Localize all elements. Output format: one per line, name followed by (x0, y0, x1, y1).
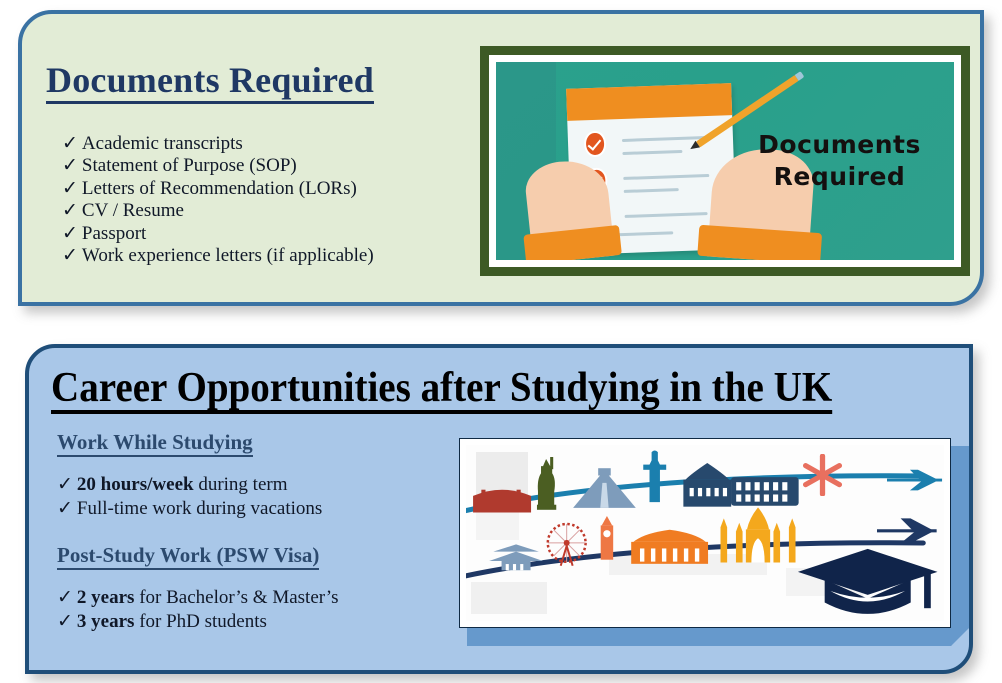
list-item-emphasis: 20 hours/week (77, 474, 194, 495)
subheading-post-study-work: Post-Study Work (PSW Visa) (57, 543, 319, 570)
big-ben-icon (595, 515, 619, 561)
documents-heading: Documents Required (46, 62, 374, 104)
windmill-icon (801, 454, 844, 496)
text-line (624, 188, 678, 193)
illustration-caption: Documents Required (739, 129, 941, 193)
check-icon: ✓ (62, 155, 78, 176)
golden-gate-bridge-icon (471, 487, 533, 515)
check-icon: ✓ (62, 245, 78, 266)
check-icon: ✓ (57, 474, 73, 495)
check-icon: ✓ (62, 200, 78, 221)
travel-artwork (466, 445, 944, 621)
sleeve-cuff (697, 225, 822, 260)
list-item-label: CV / Resume (82, 200, 184, 221)
taj-mahal-icon (715, 505, 801, 565)
airplane-upper-icon (887, 466, 944, 494)
list-item-label: Full-time work during vacations (77, 498, 322, 519)
list-item: ✓Full-time work during vacations (57, 497, 457, 521)
list-item: ✓Academic transcripts (62, 133, 374, 155)
graduation-cap-icon (796, 540, 939, 621)
list-item-label: Passport (82, 223, 146, 244)
background-block (471, 582, 547, 614)
list-item: ✓Letters of Recommendation (LORs) (62, 178, 374, 200)
text-line (625, 212, 707, 218)
list-item-emphasis: 3 years (77, 611, 135, 632)
capitol-building-icon (681, 463, 734, 509)
text-line (624, 174, 710, 180)
documents-artwork: Documents Required (496, 62, 954, 260)
list-item: ✓Statement of Purpose (SOP) (62, 155, 374, 177)
check-icon: ✓ (62, 223, 78, 244)
list-item-label: for PhD students (134, 611, 266, 632)
check-icon: ✓ (57, 498, 73, 519)
image-sheet (459, 438, 951, 628)
career-opportunities-panel: Career Opportunities after Studying in t… (25, 344, 973, 674)
list-item-label: Letters of Recommendation (LORs) (82, 178, 357, 199)
list-item-label: Statement of Purpose (SOP) (82, 155, 297, 176)
list-item-emphasis: 2 years (77, 587, 135, 608)
documents-illustration: Documents Required (480, 46, 970, 276)
sleeve-cuff (524, 225, 622, 260)
caption-line-2: Required (739, 161, 941, 193)
list-item-label: Work experience letters (if applicable) (82, 245, 374, 266)
colosseum-icon (729, 470, 801, 509)
check-icon: ✓ (62, 178, 78, 199)
check-icon: ✓ (57, 611, 73, 632)
work-while-studying-list: ✓20 hours/week during term ✓Full-time wo… (57, 473, 457, 521)
travel-illustration (459, 438, 969, 646)
check-icon: ✓ (62, 133, 78, 154)
career-heading: Career Opportunities after Studying in t… (51, 366, 832, 414)
caption-line-1: Documents (739, 129, 941, 161)
christ-the-redeemer-icon (638, 450, 671, 506)
list-item-label: Academic transcripts (82, 133, 243, 154)
list-item: ✓3 years for PhD students (57, 610, 457, 634)
list-item: ✓CV / Resume (62, 200, 374, 222)
statue-of-liberty-icon (528, 457, 566, 510)
list-item-label: during term (194, 474, 288, 495)
checkmark-badge-icon (584, 131, 606, 157)
ferris-wheel-icon (538, 522, 595, 568)
documents-required-panel: Documents Required ✓Academic transcripts… (18, 10, 984, 306)
text-line (623, 150, 682, 155)
list-item: ✓Work experience letters (if applicable) (62, 245, 374, 267)
post-study-work-list: ✓2 years for Bachelor’s & Master’s ✓3 ye… (57, 586, 457, 634)
documents-list: ✓Academic transcripts ✓Statement of Purp… (62, 133, 374, 267)
chichen-itza-pyramid-icon (571, 468, 638, 510)
image-matte: Documents Required (489, 55, 961, 267)
list-item: ✓Passport (62, 223, 374, 245)
career-body: Work While Studying ✓20 hours/week durin… (57, 430, 457, 634)
paper-header-bar (566, 83, 732, 120)
parthenon-icon (629, 528, 710, 567)
subheading-work-while-studying: Work While Studying (57, 430, 253, 457)
list-item: ✓20 hours/week during term (57, 473, 457, 497)
check-icon: ✓ (57, 587, 73, 608)
list-item: ✓2 years for Bachelor’s & Master’s (57, 586, 457, 610)
list-item-label: for Bachelor’s & Master’s (134, 587, 338, 608)
